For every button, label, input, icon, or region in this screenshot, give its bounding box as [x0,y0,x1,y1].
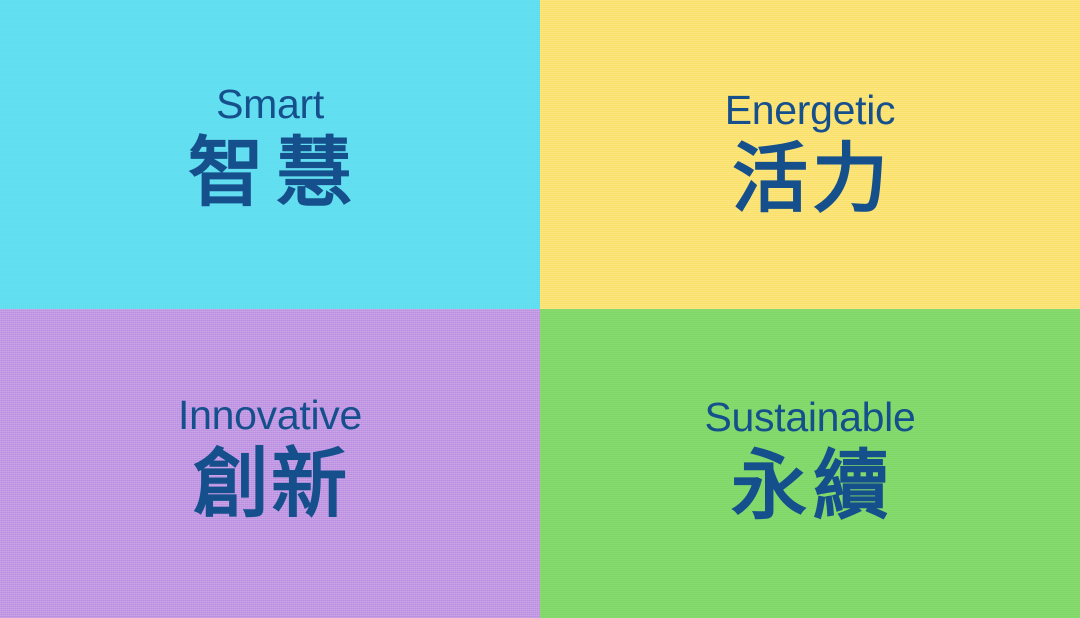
label-stack-innovative: Innovative 創新 [178,395,362,522]
quadrant-smart[interactable]: Smart 智慧 [0,0,540,309]
label-zh-smart: 智慧 [176,135,364,211]
label-stack-smart: Smart 智慧 [176,84,364,211]
label-zh-innovative: 創新 [191,446,349,522]
label-en-innovative: Innovative [178,395,362,436]
quadrant-sustainable[interactable]: Sustainable 永續 [540,309,1080,618]
label-en-sustainable: Sustainable [705,397,916,438]
label-zh-energetic: 活力 [728,141,892,217]
quadrant-energetic[interactable]: Energetic 活力 [540,0,1080,309]
label-stack-sustainable: Sustainable 永續 [705,397,916,524]
value-quadrant-grid: Smart 智慧 Energetic 活力 Innovative 創新 Sust… [0,0,1080,618]
label-zh-sustainable: 永續 [725,448,895,524]
label-en-smart: Smart [216,84,324,125]
label-stack-energetic: Energetic 活力 [725,90,896,217]
label-en-energetic: Energetic [725,90,896,131]
quadrant-innovative[interactable]: Innovative 創新 [0,309,540,618]
